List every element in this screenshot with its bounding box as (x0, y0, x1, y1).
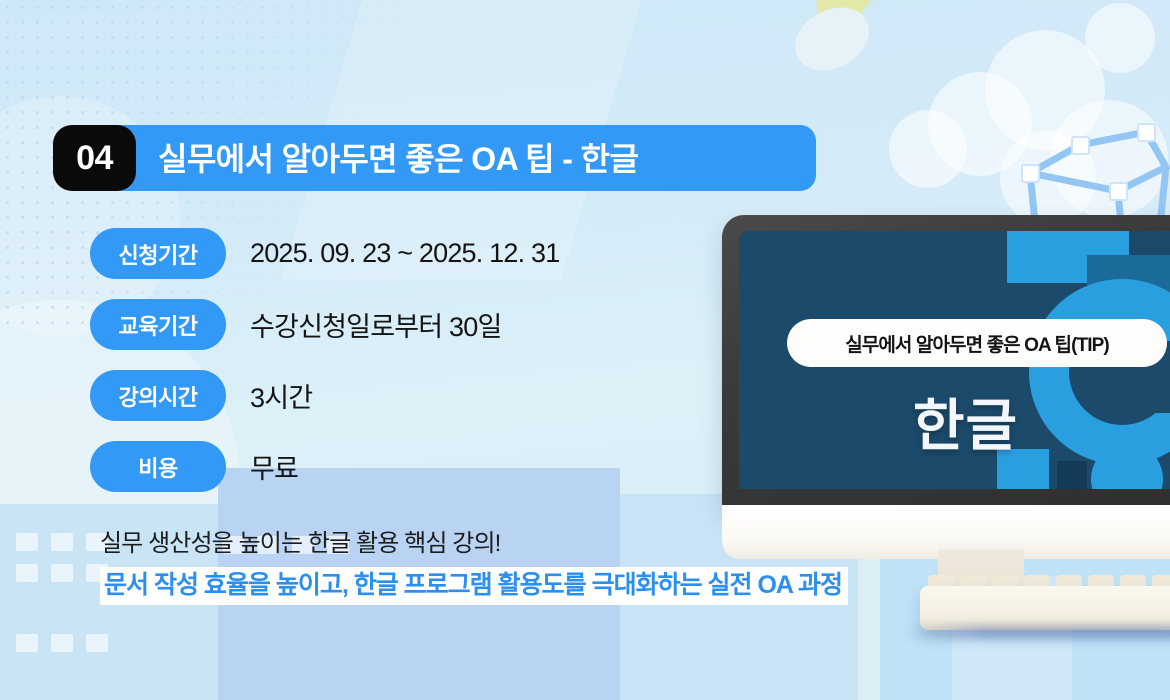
info-value: 2025. 09. 23 ~ 2025. 12. 31 (250, 238, 559, 269)
description-line-1: 실무 생산성을 높이는 한글 활용 핵심 강의! (100, 528, 848, 560)
course-number-badge: 04 (53, 125, 136, 191)
page-title-main: 실무에서 알아두면 좋은 OA 팁 - (158, 141, 581, 177)
monitor-graphic: 실무에서 알아두면 좋은 OA 팁(TIP) 한글 (722, 215, 1170, 505)
screen-pill-label: 실무에서 알아두면 좋은 OA 팁(TIP) (787, 319, 1167, 367)
info-label-badge: 신청기간 (90, 228, 226, 279)
banner-stage: 실무에서 알아두면 좋은 OA 팁(TIP) 한글 04 실무에서 알아두면 좋… (0, 0, 1170, 700)
description-line-2-highlight: 문서 작성 효율을 높이고, 한글 프로그램 활용도를 극대화하는 실전 OA … (100, 567, 848, 605)
info-row: 비용 무료 (90, 441, 559, 492)
monitor-screen: 실무에서 알아두면 좋은 OA 팁(TIP) 한글 (739, 231, 1170, 489)
info-value: 3시간 (250, 376, 312, 415)
screen-shape-square (1057, 461, 1087, 489)
keyboard-shadow (900, 625, 1170, 639)
info-value: 수강신청일로부터 30일 (250, 305, 502, 344)
info-row: 강의시간 3시간 (90, 370, 559, 421)
course-description: 실무 생산성을 높이는 한글 활용 핵심 강의! 문서 작성 효율을 높이고, … (100, 528, 848, 605)
info-value: 무료 (250, 447, 298, 486)
info-label-badge: 비용 (90, 441, 226, 492)
building-window-grid (16, 533, 108, 582)
building-window-grid (16, 634, 108, 652)
info-row: 교육기간 수강신청일로부터 30일 (90, 299, 559, 350)
screen-headline: 한글 (739, 381, 1170, 462)
keyboard-graphic (920, 586, 1170, 630)
cloud-icon (1085, 3, 1155, 73)
course-info-list: 신청기간 2025. 09. 23 ~ 2025. 12. 31 교육기간 수강… (90, 228, 559, 512)
page-title-highlight: 한글 (581, 141, 639, 177)
cloud-icon (889, 110, 967, 188)
info-label-badge: 교육기간 (90, 299, 226, 350)
info-row: 신청기간 2025. 09. 23 ~ 2025. 12. 31 (90, 228, 559, 279)
info-label-badge: 강의시간 (90, 370, 226, 421)
page-title: 실무에서 알아두면 좋은 OA 팁 - 한글 (158, 134, 638, 180)
